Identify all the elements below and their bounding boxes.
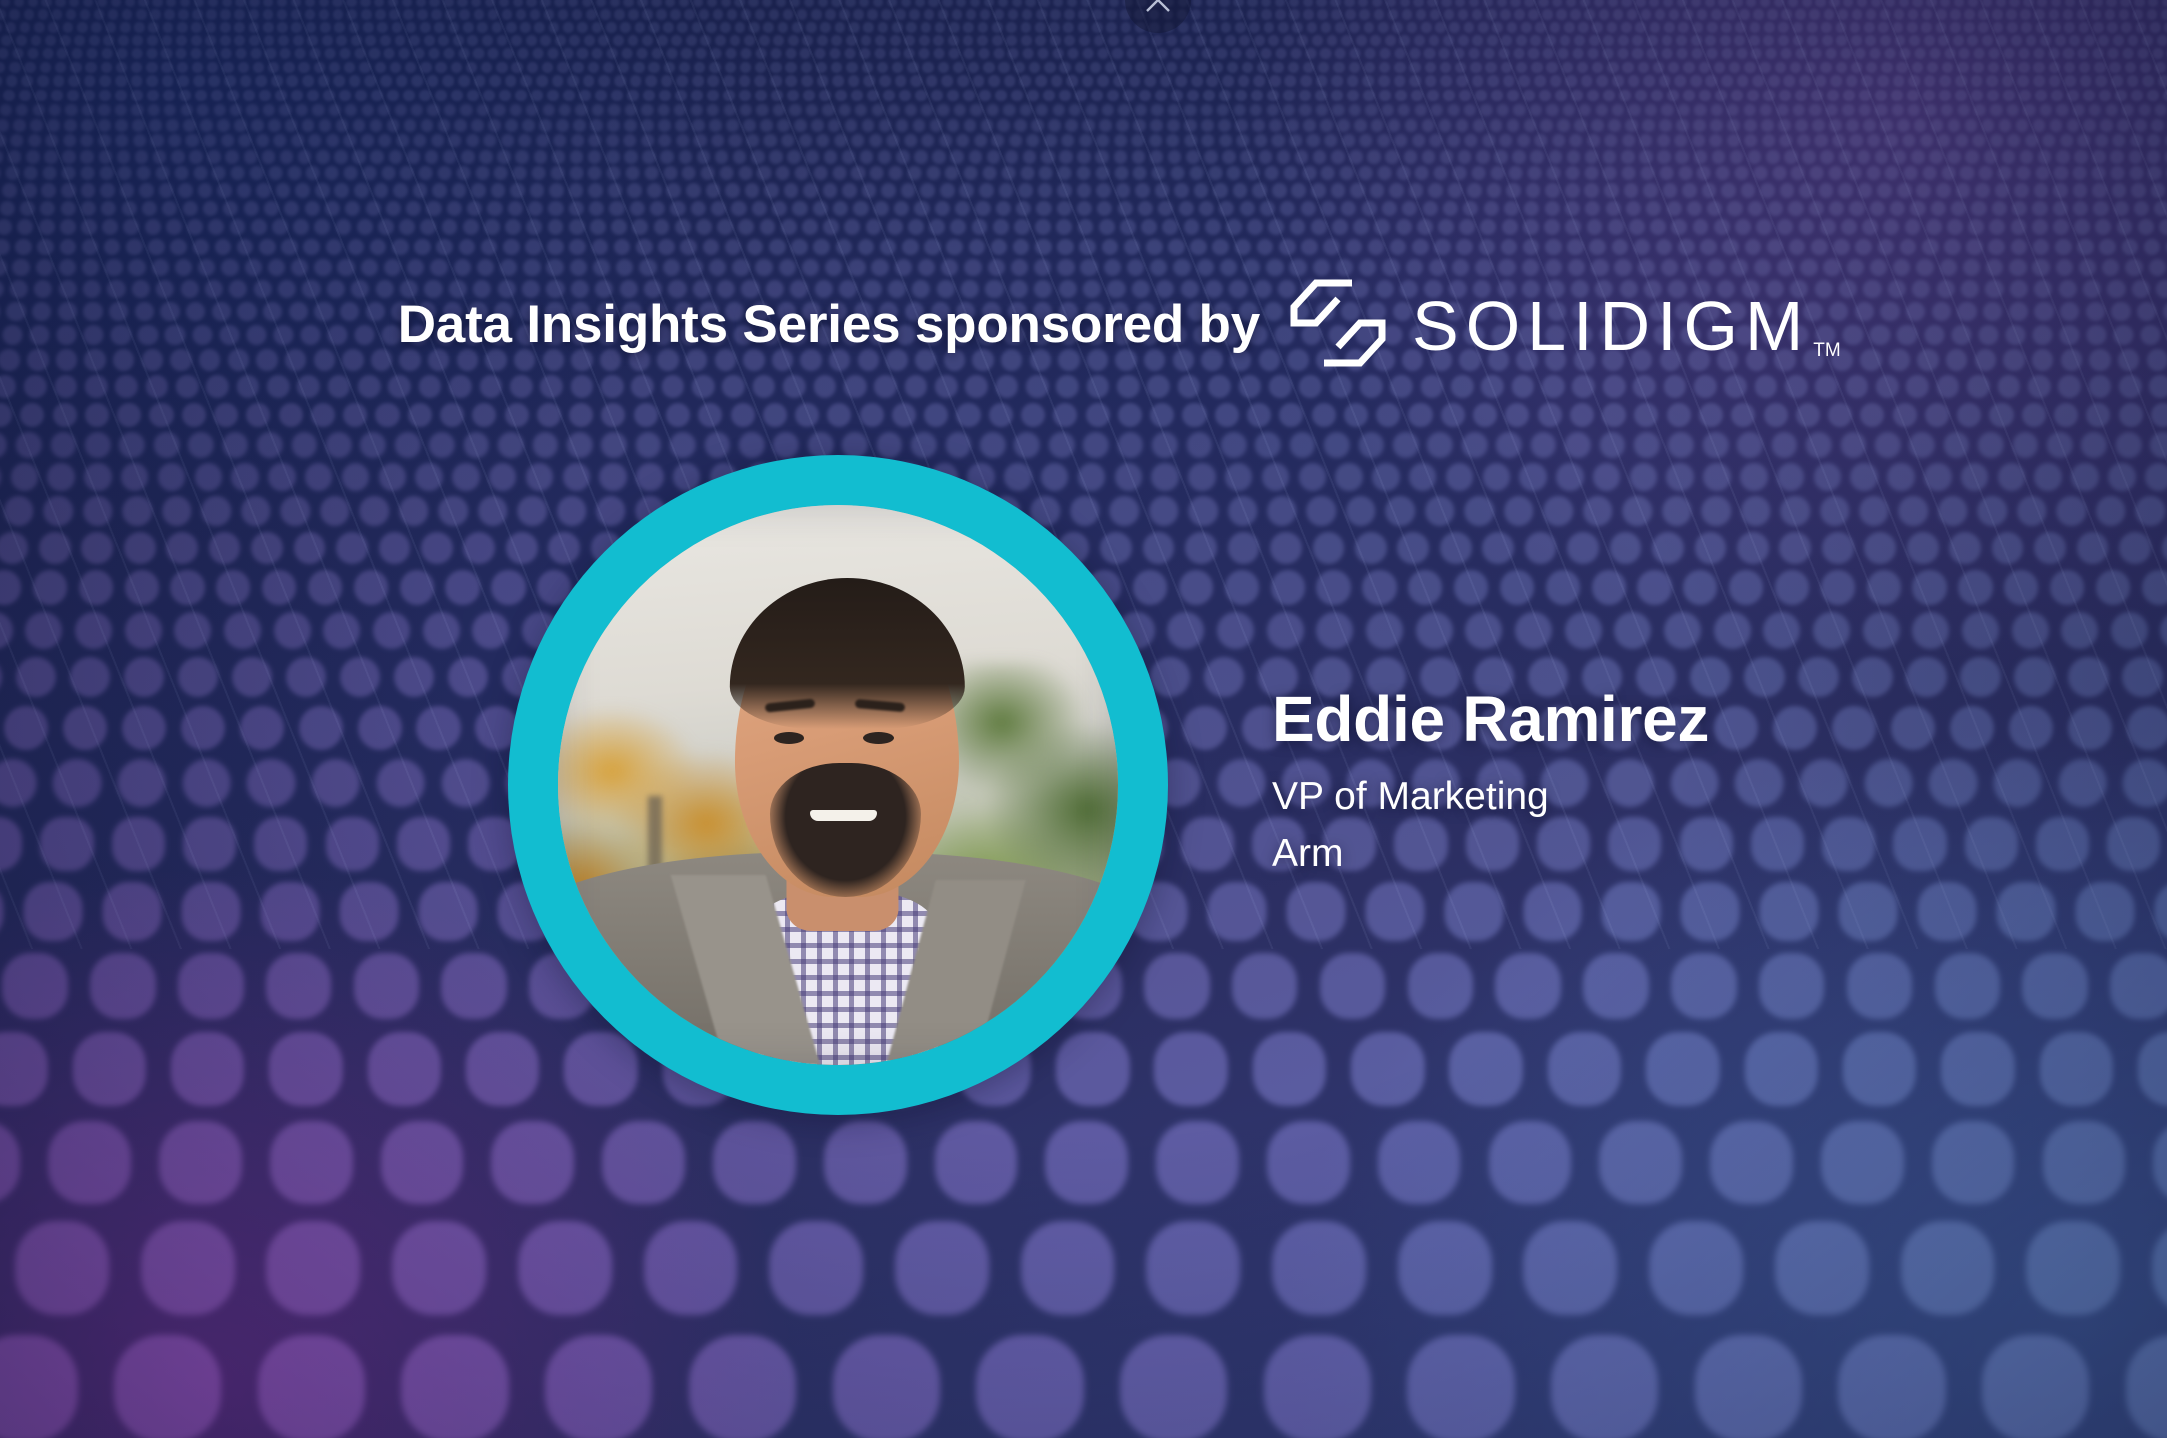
solidigm-wordmark-text: SOLIDIGM (1412, 287, 1810, 365)
solidigm-hexagon-s-mark (1286, 277, 1390, 374)
photo-soft-shadow (558, 505, 1118, 1065)
sponsor-banner: Data Insights Series sponsored by SOLIDI… (380, 277, 1940, 374)
speaker-name: Eddie Ramirez (1272, 686, 1709, 753)
close-x-icon (1141, 0, 1175, 17)
solidigm-logo: SOLIDIGMTM (1286, 277, 1838, 374)
speaker-details: Eddie Ramirez VP of Marketing Arm (1272, 686, 1709, 882)
sponsor-headline: Data Insights Series sponsored by (380, 295, 1260, 355)
solidigm-wordmark: SOLIDIGMTM (1412, 291, 1838, 361)
speaker-title: VP of Marketing (1272, 769, 1709, 826)
speaker-company: Arm (1272, 826, 1709, 883)
trademark-mark: TM (1813, 340, 1840, 361)
webinar-speaker-slide: Data Insights Series sponsored by SOLIDI… (0, 0, 2167, 1438)
speaker-photo (558, 505, 1118, 1065)
speaker-avatar-ring (508, 455, 1168, 1115)
